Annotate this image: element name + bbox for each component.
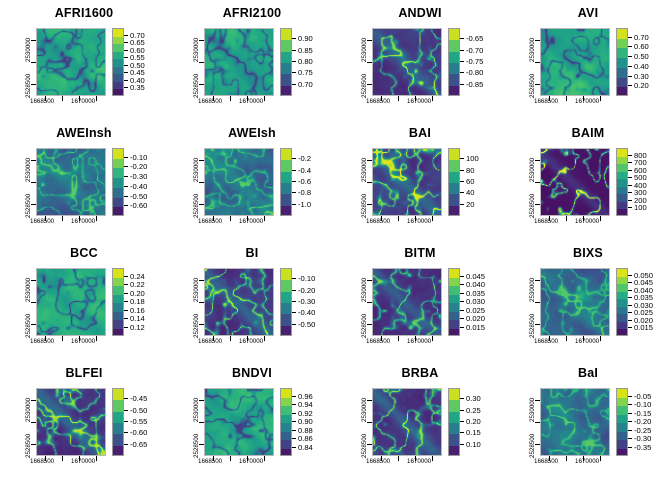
colorbar-tick-label: 60 bbox=[466, 177, 474, 186]
colorbar-tick-label: -0.60 bbox=[130, 201, 147, 210]
y-axis-label-bottom: 2528500 bbox=[193, 74, 200, 98]
x-axis-label-left: 1668500 bbox=[30, 98, 54, 105]
colorbar-ticks: 0.0500.0450.0400.0350.0300.0250.0200.015 bbox=[628, 268, 672, 336]
colorbar-segment bbox=[449, 52, 459, 63]
colorbar-tick-mark bbox=[292, 158, 296, 159]
colorbar-segment bbox=[281, 74, 291, 85]
colorbar-segment bbox=[113, 278, 123, 287]
colorbar-tick-mark bbox=[124, 432, 128, 433]
colorbar-tick-mark bbox=[628, 85, 632, 86]
colorbar-segment bbox=[113, 198, 123, 208]
x-axis-label-right: 1670000 bbox=[71, 98, 95, 105]
colorbar-tick-mark bbox=[460, 301, 464, 302]
x-axis-label-right: 1670000 bbox=[71, 458, 95, 465]
panel-title: AWEInsh bbox=[0, 126, 168, 140]
y-axis-label-bottom: 2528500 bbox=[193, 194, 200, 218]
x-axis-tick bbox=[62, 336, 63, 341]
x-axis-tick bbox=[566, 96, 567, 101]
raster-map bbox=[36, 28, 106, 96]
colorbar-tick-mark bbox=[460, 84, 464, 85]
colorbar-segment bbox=[449, 172, 459, 183]
colorbar-segment bbox=[617, 432, 627, 441]
panel-bcc: BCC25300002528500166850016700000.240.220… bbox=[0, 240, 168, 360]
colorbar-ticks: -0.65-0.70-0.75-0.80-0.85 bbox=[460, 28, 504, 96]
x-axis-tick bbox=[398, 96, 399, 101]
raster-canvas bbox=[37, 29, 105, 95]
colorbar-tick-mark bbox=[628, 421, 632, 422]
colorbar-segment bbox=[617, 149, 627, 157]
colorbar-tick-label: -0.30 bbox=[298, 297, 315, 306]
colorbar-segment bbox=[617, 29, 627, 39]
y-axis-tick bbox=[31, 422, 36, 423]
colorbar-tick-mark bbox=[292, 278, 296, 279]
x-axis-tick bbox=[566, 216, 567, 221]
colorbar-tick-mark bbox=[460, 50, 464, 51]
panel-title: BAI bbox=[336, 126, 504, 140]
colorbar-ticks: 10080604020 bbox=[460, 148, 504, 216]
panel-baim: BAIM253000025285001668500167000080070060… bbox=[504, 120, 672, 240]
raster-map bbox=[36, 388, 106, 456]
colorbar-tick-mark bbox=[628, 438, 632, 439]
colorbar-segment bbox=[113, 312, 123, 321]
raster-map bbox=[36, 268, 106, 336]
y-axis-label-top: 2530000 bbox=[25, 158, 32, 182]
y-axis-tick bbox=[535, 62, 540, 63]
x-axis-label-left: 1668500 bbox=[534, 218, 558, 225]
raster-map bbox=[540, 388, 610, 456]
colorbar-segment bbox=[281, 280, 291, 291]
colorbar-segment bbox=[617, 415, 627, 424]
colorbar-segment bbox=[113, 178, 123, 188]
colorbar-tick-label: -0.40 bbox=[298, 308, 315, 317]
panel-avi: AVI25300002528500166850016700000.700.600… bbox=[504, 0, 672, 120]
colorbar-segment bbox=[113, 207, 123, 216]
colorbar-tick-mark bbox=[628, 297, 632, 298]
panel-bixs: BIXS25300002528500166850016700000.0500.0… bbox=[504, 240, 672, 360]
colorbar-tick-label: 100 bbox=[634, 203, 647, 212]
colorbar-ticks: -0.05-0.10-0.15-0.20-0.25-0.30-0.35 bbox=[628, 388, 672, 456]
colorbar-tick-label: 0.20 bbox=[466, 417, 481, 426]
colorbar-segment bbox=[113, 159, 123, 169]
colorbar-tick-mark bbox=[292, 192, 296, 193]
colorbar-tick-label: -0.65 bbox=[130, 440, 147, 449]
colorbar bbox=[280, 148, 292, 216]
colorbar-tick-mark bbox=[628, 200, 632, 201]
colorbar-tick-label: 0.015 bbox=[466, 323, 485, 332]
x-axis-label-right: 1670000 bbox=[71, 218, 95, 225]
x-axis-tick bbox=[264, 96, 265, 101]
colorbar-segment bbox=[113, 329, 123, 337]
colorbar-segment bbox=[449, 269, 459, 278]
colorbar-ticks: 800700600500400300200100 bbox=[628, 148, 672, 216]
y-axis-tick bbox=[367, 62, 372, 63]
x-axis-tick bbox=[264, 216, 265, 221]
x-axis-tick bbox=[96, 96, 97, 101]
colorbar-tick-mark bbox=[124, 186, 128, 187]
colorbar-segment bbox=[449, 86, 459, 96]
colorbar-tick-label: -0.30 bbox=[130, 172, 147, 181]
colorbar-tick-mark bbox=[124, 318, 128, 319]
colorbar-tick-mark bbox=[460, 204, 464, 205]
panel-title: BIXS bbox=[504, 246, 672, 260]
raster-map bbox=[204, 28, 274, 96]
colorbar-segment bbox=[617, 389, 627, 398]
colorbar-tick-label: 0.75 bbox=[298, 68, 313, 77]
colorbar-segment bbox=[113, 149, 123, 159]
colorbar-tick-mark bbox=[124, 444, 128, 445]
raster-canvas bbox=[205, 389, 273, 455]
colorbar-tick-mark bbox=[292, 413, 296, 414]
x-axis-label-right: 1670000 bbox=[407, 98, 431, 105]
colorbar-tick-label: -0.10 bbox=[298, 274, 315, 283]
colorbar bbox=[448, 148, 460, 216]
panel-bai: BAI2530000252850016685001670000100806040… bbox=[336, 120, 504, 240]
colorbar-tick-mark bbox=[124, 65, 128, 66]
colorbar-tick-mark bbox=[292, 50, 296, 51]
colorbar-tick-label: 0.70 bbox=[298, 80, 313, 89]
colorbar-tick-mark bbox=[124, 276, 128, 277]
colorbar-segment bbox=[617, 209, 627, 216]
raster-map bbox=[540, 28, 610, 96]
colorbar-tick-mark bbox=[292, 170, 296, 171]
colorbar-tick-label: -0.80 bbox=[466, 68, 483, 77]
x-axis-tick bbox=[96, 336, 97, 341]
colorbar-tick-mark bbox=[628, 37, 632, 38]
colorbar-segment bbox=[449, 446, 459, 456]
colorbar-segment bbox=[113, 446, 123, 456]
colorbar-tick-label: -0.70 bbox=[466, 46, 483, 55]
colorbar-tick-label: -0.10 bbox=[130, 153, 147, 162]
colorbar-tick-label: -0.50 bbox=[130, 192, 147, 201]
colorbar-segment bbox=[617, 78, 627, 88]
x-axis-label-right: 1670000 bbox=[407, 338, 431, 345]
x-axis-tick bbox=[432, 96, 433, 101]
colorbar-tick-label: 0.10 bbox=[466, 440, 481, 449]
colorbar-tick-mark bbox=[124, 410, 128, 411]
colorbar-segment bbox=[281, 303, 291, 314]
colorbar-segment bbox=[113, 82, 123, 90]
panel-title: BaI bbox=[504, 366, 672, 380]
colorbar-tick-mark bbox=[628, 207, 632, 208]
colorbar-tick-mark bbox=[292, 324, 296, 325]
colorbar-tick-mark bbox=[628, 312, 632, 313]
colorbar-segment bbox=[617, 284, 627, 292]
colorbar bbox=[112, 28, 124, 96]
panel-title: BITM bbox=[336, 246, 504, 260]
colorbar-segment bbox=[281, 269, 291, 280]
colorbar-segment bbox=[113, 37, 123, 45]
y-axis-tick bbox=[31, 62, 36, 63]
colorbar-tick-mark bbox=[628, 185, 632, 186]
colorbar-tick-mark bbox=[460, 293, 464, 294]
y-axis-label-bottom: 2528500 bbox=[529, 434, 536, 458]
colorbar-segment bbox=[617, 172, 627, 180]
colorbar-tick-label: -0.85 bbox=[466, 80, 483, 89]
colorbar-segment bbox=[281, 440, 291, 449]
colorbar-tick-label: -0.75 bbox=[466, 57, 483, 66]
colorbar-tick-mark bbox=[124, 87, 128, 88]
x-axis-label-left: 1668500 bbox=[366, 338, 390, 345]
colorbar-tick-label: -0.8 bbox=[298, 188, 311, 197]
colorbar-segment bbox=[113, 303, 123, 312]
colorbar-tick-mark bbox=[124, 35, 128, 36]
panel-title: BAIM bbox=[504, 126, 672, 140]
colorbar-tick-mark bbox=[460, 38, 464, 39]
panel-title: BNDVI bbox=[168, 366, 336, 380]
colorbar-segment bbox=[281, 206, 291, 216]
x-axis-label-left: 1668500 bbox=[198, 218, 222, 225]
raster-map bbox=[372, 388, 442, 456]
y-axis-tick bbox=[535, 182, 540, 183]
colorbar-ticks: 0.960.940.920.900.880.860.84 bbox=[292, 388, 336, 456]
colorbar-tick-mark bbox=[292, 61, 296, 62]
colorbar-tick-label: 0.15 bbox=[466, 428, 481, 437]
raster-map bbox=[204, 388, 274, 456]
colorbar-segment bbox=[617, 406, 627, 415]
colorbar-tick-mark bbox=[628, 327, 632, 328]
y-axis-label-top: 2530000 bbox=[193, 38, 200, 62]
colorbar-segment bbox=[281, 326, 291, 336]
raster-canvas bbox=[373, 269, 441, 335]
x-axis-label-left: 1668500 bbox=[30, 338, 54, 345]
colorbar-segment bbox=[617, 157, 627, 165]
colorbar-segment bbox=[617, 48, 627, 58]
colorbar-tick-label: 0.70 bbox=[634, 33, 649, 42]
y-axis-label-bottom: 2528500 bbox=[361, 194, 368, 218]
colorbar-segment bbox=[617, 194, 627, 202]
colorbar-segment bbox=[449, 320, 459, 329]
panel-title: BLFEI bbox=[0, 366, 168, 380]
y-axis-label-top: 2530000 bbox=[361, 398, 368, 422]
colorbar-segment bbox=[281, 160, 291, 171]
y-axis-label-top: 2530000 bbox=[193, 158, 200, 182]
colorbar-tick-mark bbox=[460, 410, 464, 411]
colorbar bbox=[280, 28, 292, 96]
colorbar-tick-mark bbox=[628, 430, 632, 431]
panel-blfei: BLFEI2530000252850016685001670000-0.45-0… bbox=[0, 360, 168, 480]
panel-aweinsh: AWEInsh2530000252850016685001670000-0.10… bbox=[0, 120, 168, 240]
colorbar-segment bbox=[113, 52, 123, 60]
colorbar-segment bbox=[449, 194, 459, 205]
colorbar-tick-mark bbox=[628, 275, 632, 276]
colorbar-segment bbox=[449, 206, 459, 216]
y-axis-label-bottom: 2528500 bbox=[25, 434, 32, 458]
colorbar-segment bbox=[617, 299, 627, 307]
x-axis-label-left: 1668500 bbox=[198, 98, 222, 105]
y-axis-label-bottom: 2528500 bbox=[25, 74, 32, 98]
panel-afri1600: AFRI160025300002528500166850016700000.70… bbox=[0, 0, 168, 120]
raster-canvas bbox=[373, 29, 441, 95]
panel-title: AFRI2100 bbox=[168, 6, 336, 20]
colorbar bbox=[280, 268, 292, 336]
colorbar-tick-label: -0.50 bbox=[130, 406, 147, 415]
y-axis-label-bottom: 2528500 bbox=[529, 74, 536, 98]
y-axis-tick bbox=[535, 302, 540, 303]
colorbar-segment bbox=[617, 322, 627, 330]
y-axis-label-top: 2530000 bbox=[193, 278, 200, 302]
colorbar-segment bbox=[449, 40, 459, 51]
colorbar-tick-mark bbox=[292, 301, 296, 302]
x-axis-label-left: 1668500 bbox=[534, 338, 558, 345]
colorbar-segment bbox=[281, 40, 291, 51]
colorbar-tick-mark bbox=[628, 413, 632, 414]
colorbar-tick-mark bbox=[628, 404, 632, 405]
colorbar-tick-label: 100 bbox=[466, 154, 479, 163]
raster-canvas bbox=[205, 149, 273, 215]
colorbar-tick-mark bbox=[460, 327, 464, 328]
x-axis-tick bbox=[432, 216, 433, 221]
raster-map bbox=[204, 268, 274, 336]
colorbar-tick-label: -0.45 bbox=[130, 394, 147, 403]
colorbar-tick-mark bbox=[628, 290, 632, 291]
colorbar-tick-mark bbox=[628, 66, 632, 67]
colorbar-segment bbox=[449, 278, 459, 287]
raster-canvas bbox=[541, 269, 609, 335]
colorbar-segment bbox=[281, 52, 291, 63]
colorbar-segment bbox=[113, 320, 123, 329]
colorbar-segment bbox=[617, 202, 627, 210]
colorbar-segment bbox=[113, 168, 123, 178]
raster-canvas bbox=[205, 269, 273, 335]
colorbar-tick-mark bbox=[124, 157, 128, 158]
colorbar-tick-mark bbox=[628, 46, 632, 47]
colorbar-segment bbox=[281, 86, 291, 96]
colorbar-segment bbox=[281, 389, 291, 398]
colorbar-segment bbox=[449, 423, 459, 434]
y-axis-label-top: 2530000 bbox=[529, 158, 536, 182]
colorbar-tick-mark bbox=[292, 447, 296, 448]
colorbar-segment bbox=[449, 63, 459, 74]
colorbar-tick-mark bbox=[460, 192, 464, 193]
raster-canvas bbox=[37, 389, 105, 455]
colorbar-segment bbox=[449, 412, 459, 423]
colorbar-segment bbox=[617, 164, 627, 172]
colorbar-ticks: 0.700.600.500.400.300.20 bbox=[628, 28, 672, 96]
y-axis-label-top: 2530000 bbox=[361, 158, 368, 182]
colorbar-segment bbox=[617, 329, 627, 336]
colorbar-tick-mark bbox=[124, 80, 128, 81]
colorbar-tick-mark bbox=[124, 50, 128, 51]
colorbar-tick-label: -0.60 bbox=[130, 428, 147, 437]
colorbar-segment bbox=[281, 432, 291, 441]
colorbar-segment bbox=[113, 74, 123, 82]
x-axis-tick bbox=[96, 216, 97, 221]
colorbar-tick-label: 0.30 bbox=[634, 72, 649, 81]
x-axis-label-left: 1668500 bbox=[366, 458, 390, 465]
colorbar-segment bbox=[113, 269, 123, 278]
colorbar-segment bbox=[449, 74, 459, 85]
raster-canvas bbox=[37, 269, 105, 335]
y-axis-tick bbox=[199, 62, 204, 63]
raster-canvas bbox=[373, 149, 441, 215]
colorbar-segment bbox=[113, 89, 123, 96]
y-axis-label-bottom: 2528500 bbox=[361, 434, 368, 458]
raster-canvas bbox=[37, 149, 105, 215]
colorbar-tick-mark bbox=[628, 396, 632, 397]
colorbar-tick-label: 20 bbox=[466, 200, 474, 209]
colorbar-tick-mark bbox=[124, 166, 128, 167]
colorbar-ticks: 0.900.850.800.750.70 bbox=[292, 28, 336, 96]
y-axis-label-top: 2530000 bbox=[25, 398, 32, 422]
x-axis-tick bbox=[432, 336, 433, 341]
colorbar-tick-label: 0.80 bbox=[298, 57, 313, 66]
y-axis-label-bottom: 2528500 bbox=[193, 434, 200, 458]
colorbar-tick-mark bbox=[292, 421, 296, 422]
y-axis-label-top: 2530000 bbox=[361, 38, 368, 62]
colorbar-segment bbox=[281, 314, 291, 325]
x-axis-tick bbox=[62, 96, 63, 101]
panel-title: ANDWI bbox=[336, 6, 504, 20]
colorbar-segment bbox=[281, 449, 291, 457]
colorbar-tick-mark bbox=[124, 398, 128, 399]
raster-map bbox=[372, 28, 442, 96]
x-axis-tick bbox=[230, 456, 231, 461]
colorbar-segment bbox=[617, 277, 627, 285]
panel-bi: BI2530000252850016685001670000-0.10-0.20… bbox=[168, 240, 336, 360]
x-axis-tick bbox=[264, 456, 265, 461]
x-axis-tick bbox=[600, 96, 601, 101]
colorbar-tick-label: 0.25 bbox=[466, 406, 481, 415]
raster-map bbox=[540, 148, 610, 216]
panel-title: AFRI1600 bbox=[0, 6, 168, 20]
x-axis-tick bbox=[566, 336, 567, 341]
panel-title: BI bbox=[168, 246, 336, 260]
colorbar-tick-mark bbox=[628, 282, 632, 283]
colorbar-tick-label: -0.6 bbox=[298, 177, 311, 186]
colorbar-tick-mark bbox=[460, 72, 464, 73]
x-axis-label-left: 1668500 bbox=[198, 458, 222, 465]
colorbar-segment bbox=[281, 149, 291, 160]
colorbar bbox=[448, 28, 460, 96]
y-axis-label-top: 2530000 bbox=[25, 38, 32, 62]
colorbar-tick-label: 0.50 bbox=[634, 52, 649, 61]
colorbar-segment bbox=[281, 63, 291, 74]
colorbar-tick-mark bbox=[124, 72, 128, 73]
colorbar-tick-mark bbox=[460, 158, 464, 159]
x-axis-tick bbox=[600, 456, 601, 461]
colorbar-segment bbox=[281, 29, 291, 40]
colorbar-ticks: -0.10-0.20-0.30-0.40-0.50-0.60 bbox=[124, 148, 168, 216]
x-axis-label-right: 1670000 bbox=[407, 218, 431, 225]
colorbar-segment bbox=[113, 389, 123, 400]
panel-title: BCC bbox=[0, 246, 168, 260]
colorbar-tick-label: -0.2 bbox=[298, 154, 311, 163]
raster-map bbox=[36, 148, 106, 216]
colorbar-tick-mark bbox=[124, 42, 128, 43]
colorbar-segment bbox=[113, 59, 123, 67]
colorbar-tick-label: -0.40 bbox=[130, 182, 147, 191]
colorbar-tick-mark bbox=[124, 57, 128, 58]
colorbar-tick-mark bbox=[628, 305, 632, 306]
colorbar-segment bbox=[281, 415, 291, 424]
colorbar-segment bbox=[449, 312, 459, 321]
colorbar-tick-label: 0.84 bbox=[298, 443, 313, 452]
y-axis-label-top: 2530000 bbox=[529, 398, 536, 422]
colorbar-tick-label: -0.35 bbox=[634, 443, 651, 452]
colorbar-tick-mark bbox=[124, 196, 128, 197]
y-axis-tick bbox=[367, 422, 372, 423]
x-axis-tick bbox=[600, 216, 601, 221]
y-axis-tick bbox=[199, 302, 204, 303]
x-axis-tick bbox=[230, 216, 231, 221]
colorbar-segment bbox=[449, 329, 459, 337]
colorbar-segment bbox=[617, 292, 627, 300]
colorbar-segment bbox=[449, 389, 459, 400]
colorbar-tick-mark bbox=[292, 38, 296, 39]
colorbar-tick-mark bbox=[124, 176, 128, 177]
colorbar-tick-label: 0.12 bbox=[130, 323, 145, 332]
colorbar bbox=[616, 28, 628, 96]
